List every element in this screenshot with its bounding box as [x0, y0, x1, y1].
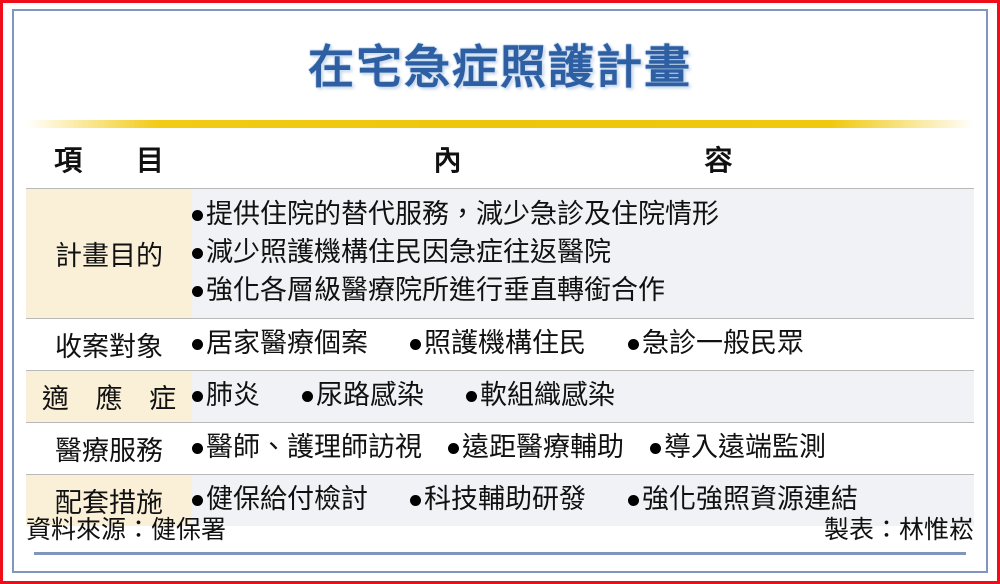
bullet-item: 照護機構住民 — [410, 325, 586, 363]
bullet-item: 急診一般民眾 — [628, 325, 804, 363]
bullet-text: 強化各層級醫療院所進行垂直轉銜合作 — [206, 275, 665, 306]
inner-frame: 在宅急症照護計畫 項 目 內 容 計畫目的 — [12, 9, 988, 573]
table-row: 醫療服務 醫師、護理師訪視 遠距醫療輔助 導入遠端監測 — [26, 422, 974, 474]
bullet-text: 急診一般民眾 — [642, 328, 804, 359]
bullet-text: 照護機構住民 — [424, 328, 586, 359]
row-content-purpose: 提供住院的替代服務，減少急診及住院情形 減少照護機構住民因急症往返醫院 強化各層… — [192, 188, 974, 318]
bullet-item: 遠距醫療輔助 — [448, 429, 624, 467]
bullet-dot-icon — [466, 391, 477, 402]
row-content-services: 醫師、護理師訪視 遠距醫療輔助 導入遠端監測 — [192, 422, 974, 474]
bullet-item: 尿路感染 — [302, 377, 424, 415]
bullet-dot-icon — [448, 443, 459, 454]
bullet-text: 尿路感染 — [316, 380, 424, 411]
bullet-text: 肺炎 — [206, 380, 260, 411]
table-row: 適 應 症 肺炎 尿路感染 軟組織感染 — [26, 370, 974, 422]
table-row: 計畫目的 提供住院的替代服務，減少急診及住院情形 減少照護機構住民因急症往返醫院… — [26, 188, 974, 318]
gold-divider-rule — [26, 120, 974, 128]
column-header-item: 項 目 — [26, 130, 192, 188]
bullet-item: 軟組織感染 — [466, 377, 615, 415]
title-area: 在宅急症照護計畫 — [14, 11, 986, 116]
table-row: 收案對象 居家醫療個案 照護機構住民 急診一般民眾 — [26, 318, 974, 370]
row-label-purpose: 計畫目的 — [26, 188, 192, 318]
table-body: 項 目 內 容 計畫目的 提供住院的替代服務，減少急診及住院情形 減 — [26, 130, 974, 526]
bullet-dot-icon — [628, 339, 639, 350]
bullet-dot-icon — [192, 286, 203, 297]
bullet-list: 肺炎 尿路感染 軟組織感染 — [192, 377, 974, 415]
table-header-row: 項 目 內 容 — [26, 130, 974, 188]
bullet-dot-icon — [650, 443, 661, 454]
bullet-dot-icon — [192, 443, 203, 454]
bullet-dot-icon — [192, 339, 203, 350]
bullet-text: 提供住院的替代服務，減少急診及住院情形 — [206, 199, 719, 230]
footer-source: 資料來源：健保署 — [26, 510, 226, 546]
row-label-eligibility: 收案對象 — [26, 318, 192, 370]
bullet-text: 減少照護機構住民因急症往返醫院 — [206, 237, 611, 268]
bullet-item: 肺炎 — [192, 377, 260, 415]
bullet-dot-icon — [192, 210, 203, 221]
bullet-item: 減少照護機構住民因急症往返醫院 — [192, 234, 974, 272]
bullet-text: 醫師、護理師訪視 — [206, 432, 422, 463]
infographic-page: 在宅急症照護計畫 項 目 內 容 計畫目的 — [0, 0, 1000, 584]
column-header-content-left: 內 — [433, 139, 461, 179]
bullet-item: 醫師、護理師訪視 — [192, 429, 422, 467]
bullet-dot-icon — [192, 495, 203, 506]
bullet-dot-icon — [302, 391, 313, 402]
bullet-list: 提供住院的替代服務，減少急診及住院情形 減少照護機構住民因急症往返醫院 強化各層… — [192, 196, 974, 311]
footer: 資料來源：健保署 製表：林惟崧 — [26, 507, 974, 549]
footer-author: 製表：林惟崧 — [824, 510, 974, 546]
bullet-dot-icon — [628, 495, 639, 506]
page-title: 在宅急症照護計畫 — [308, 31, 692, 97]
column-header-content-inner: 內 容 — [192, 139, 974, 179]
bullet-item: 居家醫療個案 — [192, 325, 368, 363]
bullet-dot-icon — [192, 248, 203, 259]
row-content-eligibility: 居家醫療個案 照護機構住民 急診一般民眾 — [192, 318, 974, 370]
bullet-item: 提供住院的替代服務，減少急診及住院情形 — [192, 196, 974, 234]
row-label-indications: 適 應 症 — [26, 370, 192, 422]
bullet-dot-icon — [410, 339, 421, 350]
bullet-dot-icon — [410, 495, 421, 506]
column-header-content: 內 容 — [192, 130, 974, 188]
bullet-item: 導入遠端監測 — [650, 429, 826, 467]
footer-divider-rule — [34, 552, 966, 555]
bullet-list: 醫師、護理師訪視 遠距醫療輔助 導入遠端監測 — [192, 429, 974, 467]
bullet-text: 遠距醫療輔助 — [462, 432, 624, 463]
row-content-indications: 肺炎 尿路感染 軟組織感染 — [192, 370, 974, 422]
column-header-content-right: 容 — [704, 139, 732, 179]
row-label-services: 醫療服務 — [26, 422, 192, 474]
program-table: 項 目 內 容 計畫目的 提供住院的替代服務，減少急診及住院情形 減 — [26, 130, 974, 526]
bullet-list: 居家醫療個案 照護機構住民 急診一般民眾 — [192, 325, 974, 363]
bullet-dot-icon — [192, 391, 203, 402]
bullet-text: 居家醫療個案 — [206, 328, 368, 359]
bullet-text: 導入遠端監測 — [664, 432, 826, 463]
bullet-text: 軟組織感染 — [480, 380, 615, 411]
bullet-item: 強化各層級醫療院所進行垂直轉銜合作 — [192, 272, 974, 310]
